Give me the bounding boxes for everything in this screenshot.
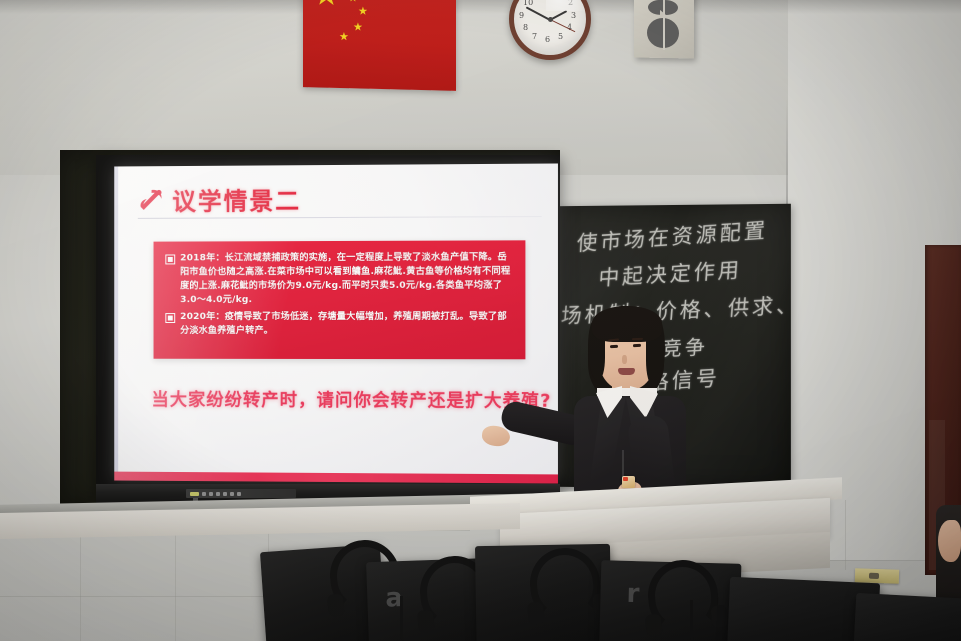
headphone-earcup (417, 609, 435, 633)
teacher-eye (610, 345, 618, 349)
power-led-icon (190, 492, 199, 496)
display-control-panel[interactable] (186, 489, 296, 498)
ceiling-shadow (0, 0, 961, 14)
speaker-divider (663, 0, 665, 50)
headphone-earcup (527, 601, 545, 625)
monitor-cable (400, 596, 404, 641)
asset-tag-mark (869, 573, 879, 579)
clock-glass-glare (546, 0, 591, 11)
control-button-icon[interactable] (230, 492, 234, 496)
slide-title: 议学情景二 (172, 181, 301, 217)
clock-number: 7 (532, 32, 537, 41)
slide-title-row: 议学情景二 (138, 181, 301, 217)
chinese-national-flag: ★ ★ ★ ★ ★ (303, 0, 456, 91)
teacher-nose (622, 355, 627, 364)
wall-speaker (634, 0, 694, 59)
control-button-icon[interactable] (223, 492, 227, 496)
clock-number: 6 (545, 35, 550, 44)
wall-tile-line (0, 596, 300, 597)
slide-bullet-item: 2018年：长江流域禁捕政策的实施，在一定程度上导致了淡水鱼产值下降。岳阳市鱼价… (165, 250, 513, 307)
slide-question-text: 当大家纷纷转产时，请问你会转产还是扩大养殖? (152, 387, 552, 413)
flag-star-small: ★ (348, 0, 358, 3)
flag-star-small: ★ (339, 31, 349, 42)
presentation-clicker-icon[interactable] (622, 476, 635, 488)
clock-center-pin (548, 17, 553, 22)
clock-number: 8 (523, 23, 528, 32)
control-button-icon[interactable] (202, 492, 206, 496)
clock-number: 10 (523, 0, 533, 7)
bullet-text: 2018年：长江流域禁捕政策的实施，在一定程度上导致了淡水鱼产值下降。岳阳市鱼价… (180, 250, 513, 307)
monitor-brand-logo: r (626, 579, 640, 609)
computer-monitor[interactable] (852, 593, 961, 641)
classroom-scene: ★ ★ ★ ★ ★ 12 1 2 3 4 5 6 7 8 9 10 11 使市场… (0, 0, 961, 641)
control-button-icon[interactable] (216, 492, 220, 496)
clock-number: 5 (558, 32, 563, 41)
teacher-mouth (618, 368, 635, 375)
teacher-hair-fringe (592, 306, 662, 342)
teacher-eyebrow (632, 338, 643, 340)
flag-star-large: ★ (313, 0, 340, 11)
headphone-earcup (645, 613, 663, 637)
bullet-text: 2020年：疫情导致了市场低迷，存塘量大幅增加，养殖周期被打乱。导致了部分淡水鱼… (180, 310, 513, 338)
monitor-cable (690, 600, 694, 641)
slide-content-box: 2018年：长江流域禁捕政策的实施，在一定程度上导致了淡水鱼产值下降。岳阳市鱼价… (154, 240, 526, 359)
teacher-eye (633, 344, 641, 347)
flag-star-small: ★ (358, 5, 368, 16)
bullet-marker-icon (165, 313, 175, 323)
slide-bullet-item: 2020年：疫情导致了市场低迷，存塘量大幅增加，养殖周期被打乱。导致了部分淡水鱼… (165, 310, 513, 338)
slide-left-edge (114, 166, 118, 480)
control-button-icon[interactable] (237, 492, 241, 496)
clock-number: 9 (519, 11, 524, 20)
headphone-earcup (327, 593, 345, 617)
clock-number: 3 (571, 11, 576, 20)
headphone-earcup (710, 605, 728, 629)
control-button-icon[interactable] (209, 492, 213, 496)
flag-star-small: ★ (353, 21, 363, 32)
clicker-led-icon (623, 477, 628, 481)
party-emblem-icon (138, 187, 164, 211)
yellow-asset-tag (855, 568, 899, 584)
bullet-marker-icon (165, 254, 175, 264)
foreground-person-hand (938, 520, 961, 562)
